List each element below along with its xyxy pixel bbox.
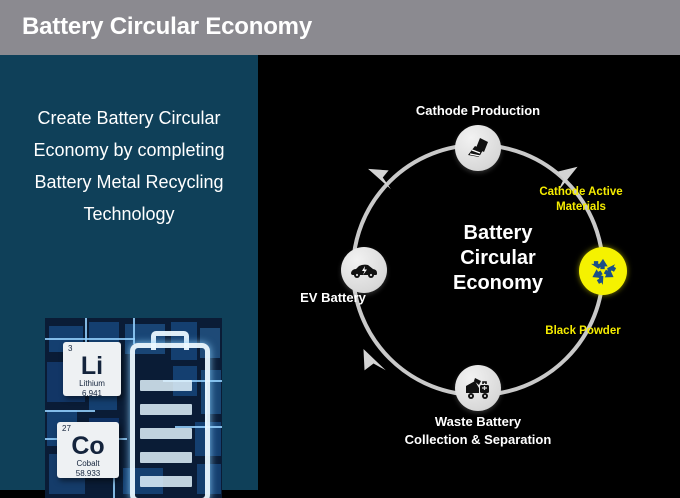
headline-line-3: Battery Metal Recycling bbox=[10, 166, 248, 198]
headline-line-1: Create Battery Circular bbox=[10, 102, 248, 134]
recycle-icon bbox=[588, 256, 618, 286]
label-cathode-production: Cathode Production bbox=[358, 103, 598, 118]
cam-line-2: Materials bbox=[506, 200, 656, 215]
node-ev-battery[interactable] bbox=[341, 247, 387, 293]
element-weight: 58.933 bbox=[57, 469, 119, 479]
label-black-powder: Black Powder bbox=[508, 325, 658, 337]
headline-line-4: Technology bbox=[10, 198, 248, 230]
cam-line-1: Cathode Active bbox=[506, 185, 656, 200]
left-panel: Create Battery Circular Economy by compl… bbox=[0, 55, 258, 490]
battery-level-bar bbox=[140, 404, 192, 415]
headline-line-2: Economy by completing bbox=[10, 134, 248, 166]
label-waste-battery-collection: Waste Battery Collection & Separation bbox=[318, 413, 638, 449]
node-recycling[interactable] bbox=[579, 247, 627, 295]
center-line-2: Circular bbox=[418, 246, 578, 271]
battery-elements-photo: 3 Li Lithium 6.941 27 Co Cobalt 58.933 bbox=[45, 318, 222, 498]
cathode-powder-icon bbox=[464, 136, 492, 160]
collection-truck-icon bbox=[463, 375, 493, 401]
slide-header: Battery Circular Economy bbox=[0, 0, 680, 55]
node-cathode-production[interactable] bbox=[455, 125, 501, 171]
element-tile-cobalt: 27 Co Cobalt 58.933 bbox=[57, 422, 119, 478]
label-waste-line-2: Collection & Separation bbox=[318, 431, 638, 449]
battery-level-bar bbox=[140, 452, 192, 463]
page-title: Battery Circular Economy bbox=[22, 13, 312, 41]
element-name: Cobalt bbox=[57, 459, 119, 469]
label-cathode-active-materials: Cathode Active Materials bbox=[506, 185, 656, 215]
label-waste-line-1: Waste Battery bbox=[318, 413, 638, 431]
label-ev-battery: EV Battery bbox=[268, 290, 398, 305]
battery-level-bar bbox=[140, 380, 192, 391]
battery-outline-icon bbox=[130, 343, 210, 498]
battery-level-bar bbox=[140, 428, 192, 439]
arrowhead-upper-left bbox=[368, 165, 392, 192]
diagram-center-label: Battery Circular Economy bbox=[418, 221, 578, 296]
center-line-1: Battery bbox=[418, 221, 578, 246]
headline-text: Create Battery Circular Economy by compl… bbox=[10, 102, 248, 230]
battery-level-bar bbox=[140, 476, 192, 487]
node-waste-battery-collection[interactable] bbox=[455, 365, 501, 411]
element-number: 3 bbox=[68, 344, 72, 353]
electric-car-icon bbox=[349, 261, 379, 279]
element-tile-lithium: 3 Li Lithium 6.941 bbox=[63, 342, 121, 396]
slide-canvas: Battery Circular Economy Create Battery … bbox=[0, 0, 680, 490]
element-number: 27 bbox=[62, 424, 71, 433]
element-name: Lithium bbox=[63, 379, 121, 389]
diagram-panel: Battery Circular Economy Cathode Product… bbox=[258, 55, 680, 490]
center-line-3: Economy bbox=[418, 271, 578, 296]
element-weight: 6.941 bbox=[63, 389, 121, 399]
